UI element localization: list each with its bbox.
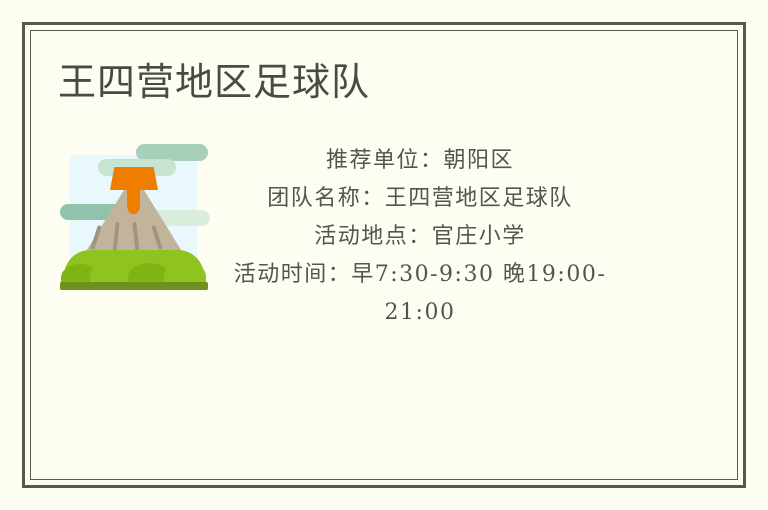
page-root: 王四营地区足球队 推荐单位：朝阳区 团队名称：王四营地区足球队 活动地点：官庄 <box>0 0 768 510</box>
ground-base <box>60 282 208 290</box>
team-details-block: 推荐单位：朝阳区 团队名称：王四营地区足球队 活动地点：官庄小学 活动时间：早7… <box>210 142 630 332</box>
card-content: 王四营地区足球队 推荐单位：朝阳区 团队名称：王四营地区足球队 活动地点：官庄 <box>30 30 738 480</box>
lava-drip <box>127 186 140 214</box>
detail-line-activity-time: 活动时间：早7:30-9:30 晚19:00-21:00 <box>210 256 630 332</box>
volcano-icon <box>58 142 210 295</box>
page-title: 王四营地区足球队 <box>58 60 370 106</box>
detail-line-recommending-unit: 推荐单位：朝阳区 <box>210 142 630 180</box>
detail-line-activity-place: 活动地点：官庄小学 <box>210 218 630 256</box>
detail-line-team-name: 团队名称：王四营地区足球队 <box>210 180 630 218</box>
